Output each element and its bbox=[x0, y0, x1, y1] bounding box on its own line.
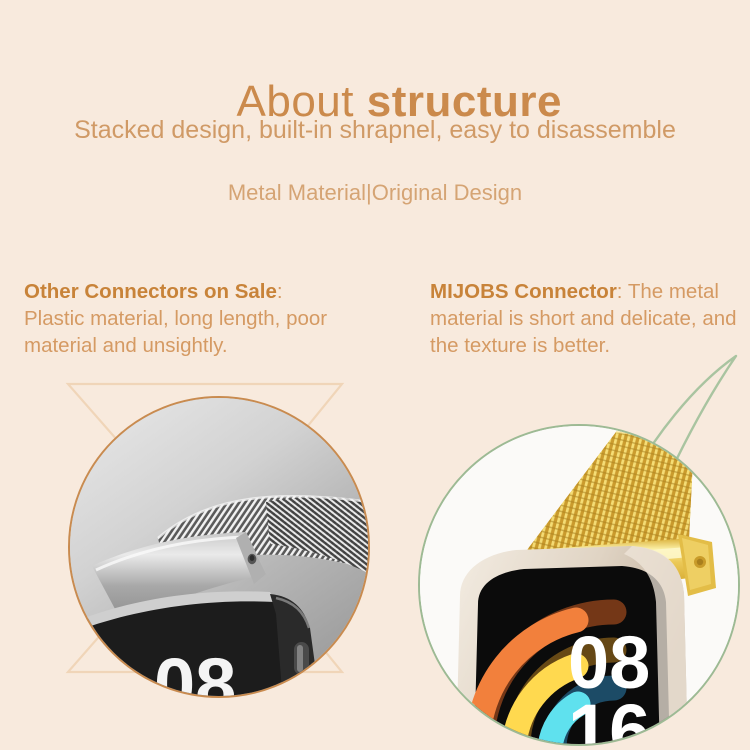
product-feature-panel: About structure Stacked design, built-in… bbox=[0, 0, 750, 750]
page-title: About structure bbox=[0, 36, 750, 168]
left-column-body: Plastic material, long length, poor mate… bbox=[24, 307, 327, 357]
left-heading-suffix: : bbox=[277, 280, 283, 303]
left-column-heading: Other Connectors on Sale bbox=[24, 280, 277, 303]
subtitle-secondary: Metal Material|Original Design bbox=[0, 180, 750, 206]
right-watch-minute: 16 bbox=[568, 689, 650, 744]
right-column-copy: MIJOBS Connector: The metal material is … bbox=[430, 278, 740, 359]
left-watch-time: 08 bbox=[154, 643, 236, 696]
right-column-heading: MIJOBS Connector bbox=[430, 280, 617, 303]
left-product-photo: 08 bbox=[68, 396, 370, 698]
right-heading-suffix: : bbox=[617, 280, 628, 303]
subtitle-primary: Stacked design, built-in shrapnel, easy … bbox=[0, 116, 750, 145]
right-product-photo: 08 16 bbox=[418, 424, 740, 746]
left-column-copy: Other Connectors on Sale: Plastic materi… bbox=[24, 278, 374, 359]
